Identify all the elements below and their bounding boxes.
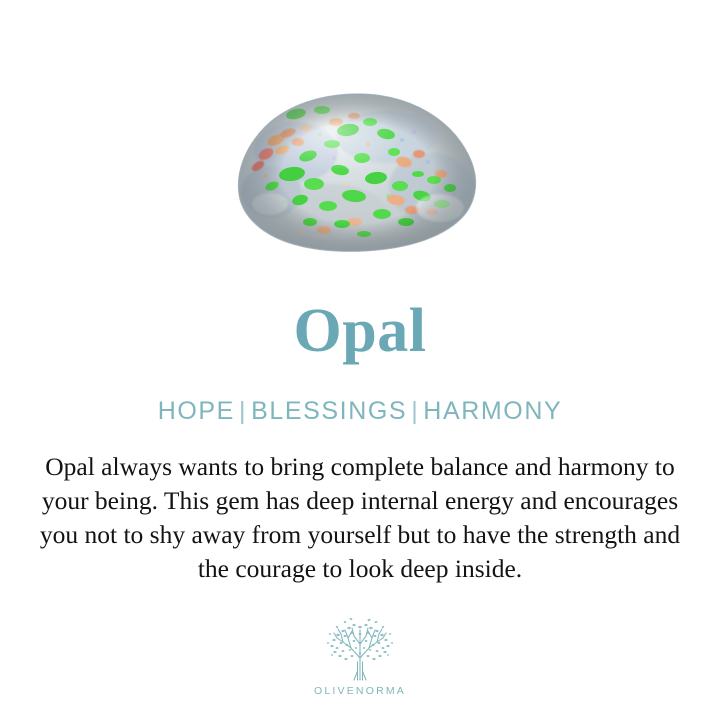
page-title: Opal [0,296,720,366]
keyword-hope: HOPE [158,397,235,425]
description-paragraph: Opal always wants to bring complete bala… [26,450,694,586]
brand-logo: OLIVENORMA [0,612,720,697]
opal-cabochon-icon [236,92,480,254]
tree-of-life-icon [321,612,399,684]
keyword-harmony: HARMONY [423,397,562,425]
keyword-separator-1: | [235,397,251,425]
keywords-line: HOPE|BLESSINGS|HARMONY [0,396,720,426]
opal-gemstone-card: Opal HOPE|BLESSINGS|HARMONY Opal always … [0,0,720,720]
opal-gem-image [236,92,480,254]
keyword-blessings: BLESSINGS [251,397,407,425]
keyword-separator-2: | [407,397,423,425]
brand-name: OLIVENORMA [314,685,406,697]
